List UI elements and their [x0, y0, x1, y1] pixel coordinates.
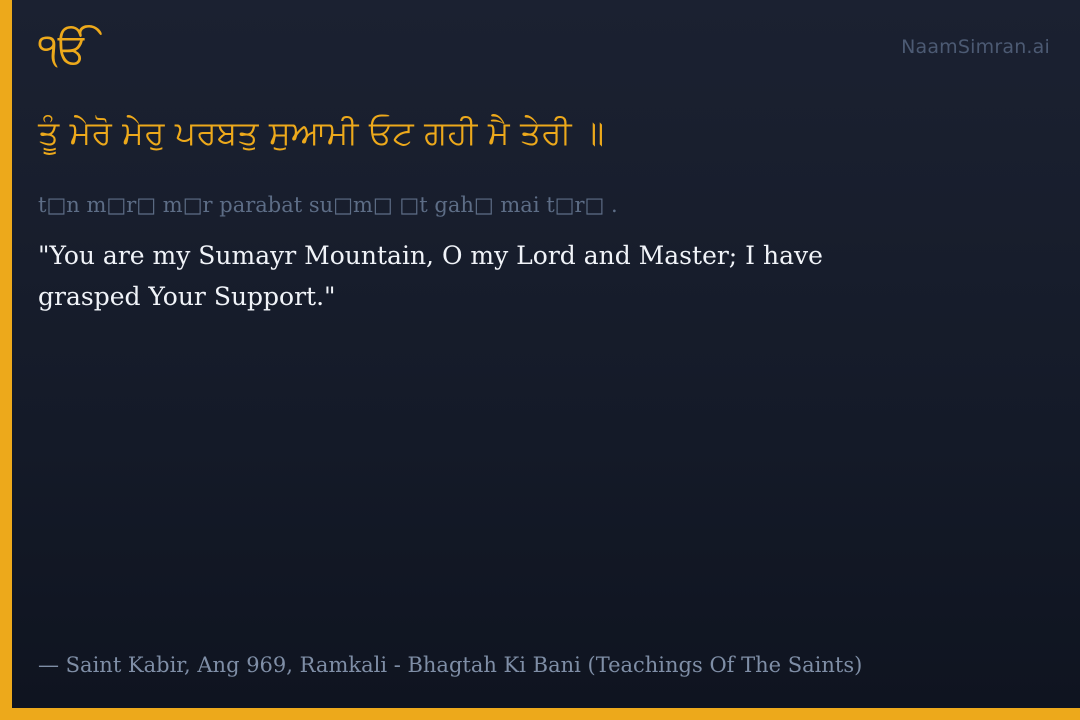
transliteration-text: t□n m□r□ m□r parabat su□m□ □t gah□ mai t…	[38, 190, 868, 222]
quote-content: ੴ ਤੂੰ ਮੇਰੋ ਮੇਰੁ ਪਰਬਤੁ ਸੁਆਮੀ ਓਟ ਗਹੀ ਮੈ ਤੇ…	[38, 26, 1020, 317]
gurmukhi-verse: ਤੂੰ ਮੇਰੋ ਮੇਰੁ ਪਰਬਤੁ ਸੁਆਮੀ ਓਟ ਗਹੀ ਮੈ ਤੇਰੀ…	[38, 106, 638, 159]
english-translation: "You are my Sumayr Mountain, O my Lord a…	[38, 236, 838, 317]
source-attribution: — Saint Kabir, Ang 969, Ramkali - Bhagta…	[38, 651, 862, 680]
scripture-quote-card: NaamSimran.ai ੴ ਤੂੰ ਮੇਰੋ ਮੇਰੁ ਪਰਬਤੁ ਸੁਆਮ…	[0, 0, 1080, 720]
ik-onkar-icon: ੴ	[38, 26, 1020, 72]
